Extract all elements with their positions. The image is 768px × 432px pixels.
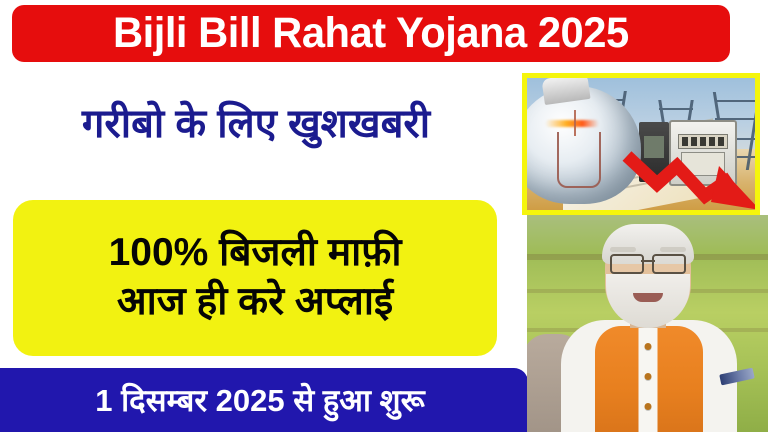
title-bar: Bijli Bill Rahat Yojana 2025 (12, 5, 730, 62)
vest-button (644, 403, 651, 410)
mouth (633, 293, 663, 302)
person-figure (527, 215, 768, 432)
highlight-line-1: 100% बिजली माफ़ी (109, 229, 402, 278)
poster-root: Bijli Bill Rahat Yojana 2025 गरीबो के लि… (0, 0, 768, 432)
red-down-arrow-icon (619, 130, 755, 210)
footer-bar: 1 दिसम्बर 2025 से हुआ शुरू (0, 368, 528, 432)
collage-canvas (527, 78, 755, 210)
page-title: Bijli Bill Rahat Yojana 2025 (113, 12, 629, 55)
headline-text: गरीबो के लिए खुशखबरी (82, 103, 430, 145)
glasses-bridge (641, 260, 655, 262)
eyebrow (660, 247, 686, 252)
lens-right (652, 254, 686, 274)
vest-button (644, 343, 651, 350)
vest-button (644, 373, 651, 380)
headline-block: गरीबो के लिए खुशखबरी (0, 88, 512, 160)
highlight-line-2: आज ही करे अप्लाई (117, 278, 393, 327)
eyebrow (610, 247, 636, 252)
electricity-bill-collage-image (522, 73, 760, 215)
bulb-spark (545, 120, 599, 127)
eyeglasses-icon (610, 254, 686, 270)
footer-text: 1 दिसम्बर 2025 से हुआ शुरू (95, 385, 424, 416)
lens-left (610, 254, 644, 274)
politician-portrait-photo (527, 215, 768, 432)
bulb-filament (557, 132, 601, 188)
highlight-box: 100% बिजली माफ़ी आज ही करे अप्लाई (13, 200, 497, 356)
bulb-cap (541, 78, 590, 105)
